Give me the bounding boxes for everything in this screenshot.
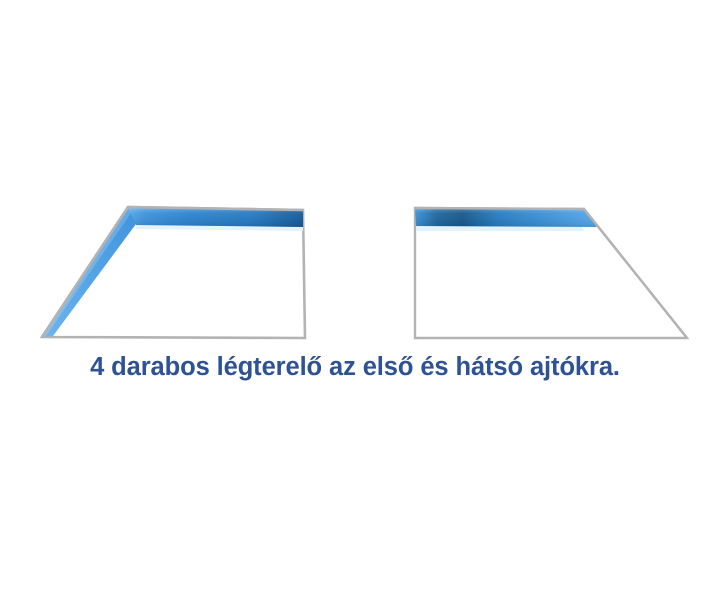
product-caption: 4 darabos légterelő az első és hátsó ajt… bbox=[0, 353, 710, 382]
rear-door-deflector bbox=[415, 208, 687, 338]
rear-deflector-top-strip-shade bbox=[415, 208, 597, 227]
wind-deflector-illustration bbox=[0, 0, 710, 613]
front-door-deflector bbox=[42, 207, 305, 338]
